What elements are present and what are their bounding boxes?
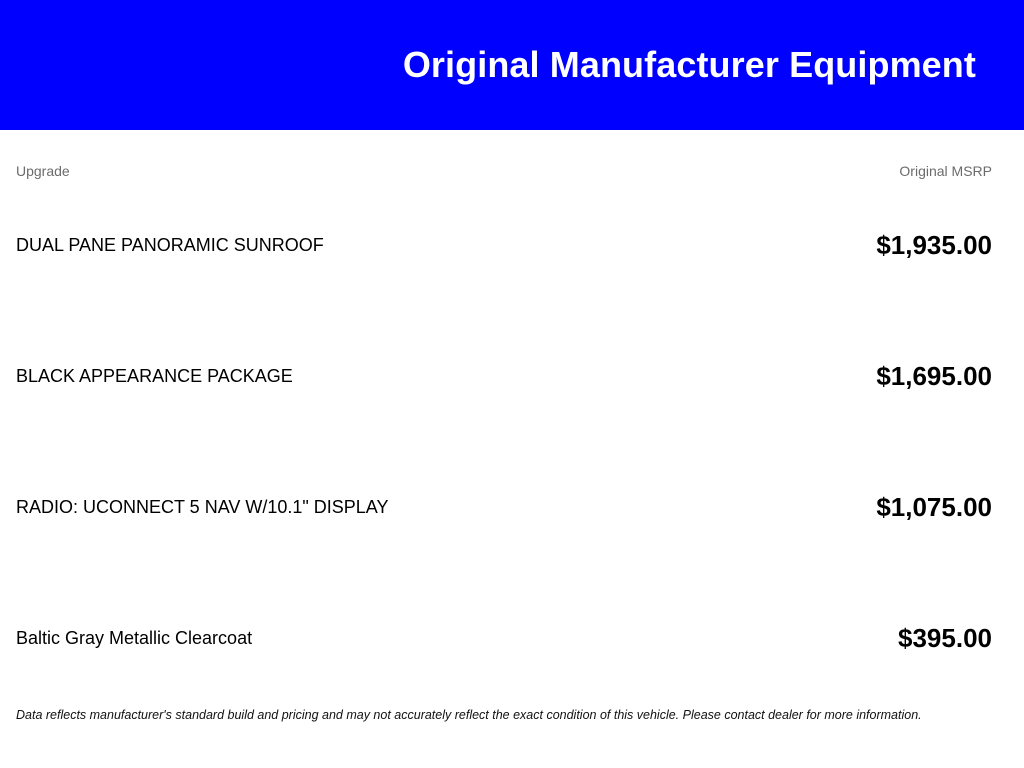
table-cell-msrp: $1,075.00 bbox=[699, 442, 992, 573]
table-cell-msrp: $395.00 bbox=[699, 573, 992, 704]
table-cell-msrp: $1,695.00 bbox=[699, 311, 992, 442]
table-row: DUAL PANE PANORAMIC SUNROOF $1,935.00 bbox=[16, 180, 992, 311]
upgrade-price: $395.00 bbox=[898, 623, 992, 653]
column-header-upgrade: Upgrade bbox=[16, 130, 699, 180]
table-cell-upgrade: DUAL PANE PANORAMIC SUNROOF bbox=[16, 180, 699, 311]
page-banner: Original Manufacturer Equipment bbox=[0, 0, 1024, 130]
table-body: DUAL PANE PANORAMIC SUNROOF $1,935.00 BL… bbox=[16, 180, 992, 704]
table-cell-msrp: $1,935.00 bbox=[699, 180, 992, 311]
table-cell-upgrade: Baltic Gray Metallic Clearcoat bbox=[16, 573, 699, 704]
table-cell-upgrade: RADIO: UCONNECT 5 NAV W/10.1" DISPLAY bbox=[16, 442, 699, 573]
table-row: RADIO: UCONNECT 5 NAV W/10.1" DISPLAY $1… bbox=[16, 442, 992, 573]
table-row: Baltic Gray Metallic Clearcoat $395.00 bbox=[16, 573, 992, 704]
disclaimer-text: Data reflects manufacturer's standard bu… bbox=[16, 707, 1008, 723]
page-title: Original Manufacturer Equipment bbox=[403, 45, 976, 85]
equipment-page: Original Manufacturer Equipment Upgrade … bbox=[0, 0, 1024, 768]
equipment-content: Upgrade Original MSRP DUAL PANE PANORAMI… bbox=[0, 130, 1024, 768]
column-header-msrp: Original MSRP bbox=[699, 130, 992, 180]
upgrade-price: $1,695.00 bbox=[876, 361, 992, 391]
upgrade-price: $1,935.00 bbox=[876, 230, 992, 260]
table-cell-upgrade: BLACK APPEARANCE PACKAGE bbox=[16, 311, 699, 442]
upgrade-name: RADIO: UCONNECT 5 NAV W/10.1" DISPLAY bbox=[16, 497, 388, 517]
table-header: Upgrade Original MSRP bbox=[16, 130, 992, 180]
upgrade-name: DUAL PANE PANORAMIC SUNROOF bbox=[16, 235, 324, 255]
table-row: BLACK APPEARANCE PACKAGE $1,695.00 bbox=[16, 311, 992, 442]
upgrade-price: $1,075.00 bbox=[876, 492, 992, 522]
upgrade-name: Baltic Gray Metallic Clearcoat bbox=[16, 628, 252, 648]
upgrade-name: BLACK APPEARANCE PACKAGE bbox=[16, 366, 293, 386]
equipment-table: Upgrade Original MSRP DUAL PANE PANORAMI… bbox=[16, 130, 992, 704]
table-header-row: Upgrade Original MSRP bbox=[16, 130, 992, 180]
